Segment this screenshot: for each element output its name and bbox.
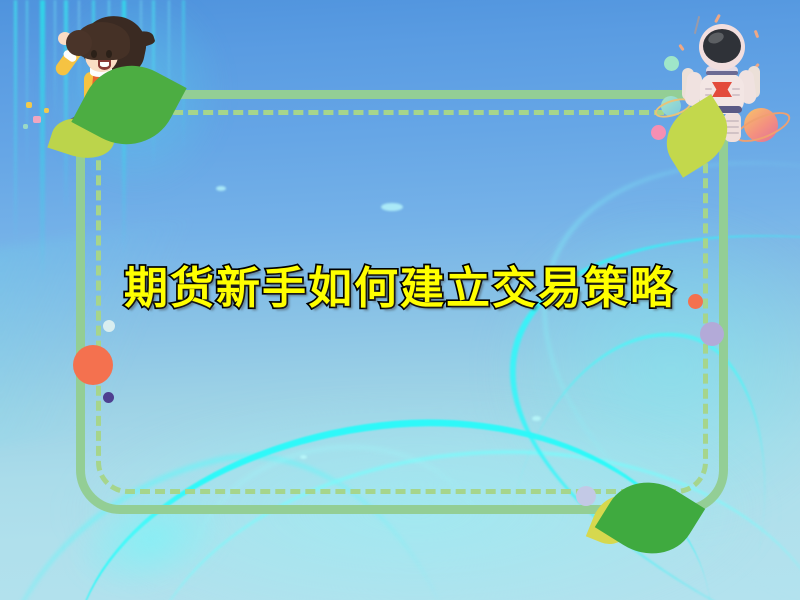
lavender-circle [700, 322, 724, 346]
confetti-a [26, 102, 32, 108]
confetti-c [44, 108, 49, 113]
presentation-slide: 期货新手如何建立交易策略 [0, 0, 800, 600]
purple-dot [103, 392, 114, 403]
pink-dot [651, 125, 666, 140]
page-title: 期货新手如何建立交易策略 [124, 263, 676, 314]
confetti-b [33, 116, 41, 123]
confetti-d [23, 124, 28, 129]
title-container: 期货新手如何建立交易策略 [0, 263, 800, 314]
orange-circle-large [73, 345, 113, 385]
white-dot [103, 320, 115, 332]
lavender-circle-bottom [576, 486, 596, 506]
